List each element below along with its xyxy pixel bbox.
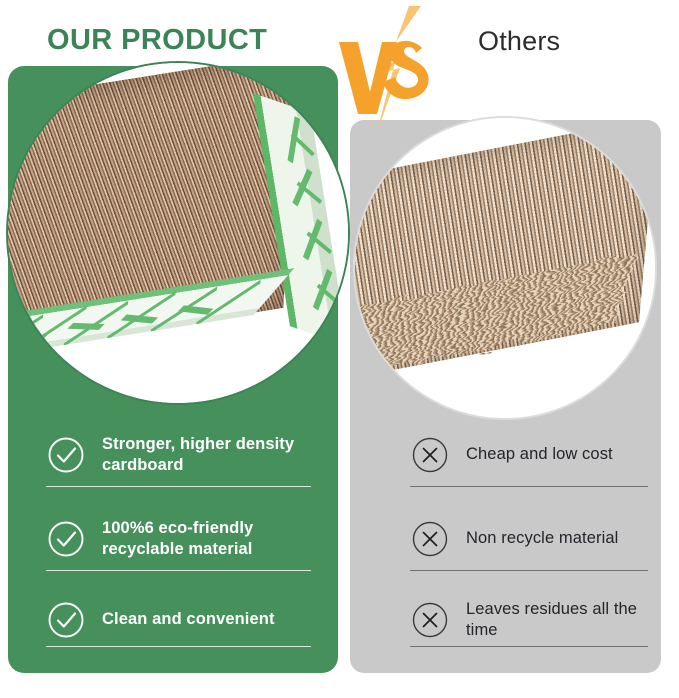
others-feature-list: Cheap and low cost Non recycle material xyxy=(410,424,648,664)
list-divider xyxy=(410,646,648,647)
x-circle-icon xyxy=(410,600,450,640)
list-item-label: Leaves residues all the time xyxy=(466,599,648,641)
list-item-label: Cheap and low cost xyxy=(466,444,613,465)
list-divider xyxy=(46,646,311,647)
list-divider xyxy=(46,570,311,571)
list-item-label: Clean and convenient xyxy=(102,609,275,630)
list-item: Stronger, higher density cardboard xyxy=(46,424,311,508)
check-circle-icon xyxy=(46,435,86,475)
others-title: Others xyxy=(478,26,560,57)
list-item: Cheap and low cost xyxy=(410,424,648,508)
list-item: 100%6 eco-friendly recyclable material xyxy=(46,508,311,594)
check-circle-icon xyxy=(46,600,86,640)
check-circle-icon xyxy=(46,519,86,559)
list-item-label: 100%6 eco-friendly recyclable material xyxy=(102,518,311,560)
our-product-title: OUR PRODUCT xyxy=(47,24,267,57)
list-item: Non recycle material xyxy=(410,508,648,594)
list-divider xyxy=(46,486,311,487)
list-item-label: Non recycle material xyxy=(466,528,618,549)
list-divider xyxy=(410,570,648,571)
comparison-infographic: OUR PRODUCT Others xyxy=(0,0,679,698)
our-product-feature-list: Stronger, higher density cardboard 100%6… xyxy=(46,424,311,664)
list-item: Leaves residues all the time xyxy=(410,594,648,664)
x-circle-icon xyxy=(410,435,450,475)
list-divider xyxy=(410,486,648,487)
our-product-photo xyxy=(8,63,348,403)
list-item-label: Stronger, higher density cardboard xyxy=(102,434,311,476)
others-product-photo xyxy=(355,118,655,418)
list-item: Clean and convenient xyxy=(46,594,311,664)
x-circle-icon xyxy=(410,519,450,559)
